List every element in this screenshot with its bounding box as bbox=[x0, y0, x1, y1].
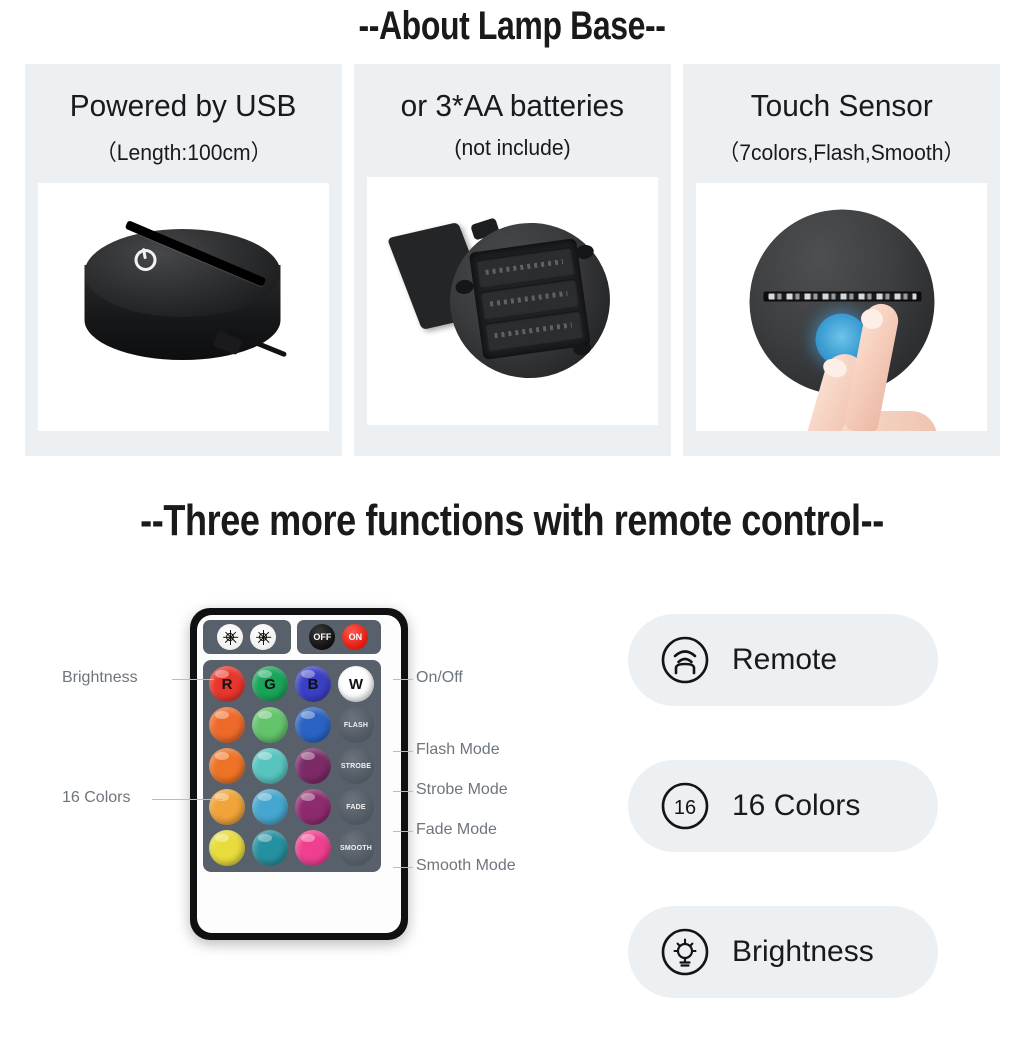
color-button[interactable] bbox=[209, 748, 245, 784]
power-icon bbox=[132, 247, 157, 272]
leader-line bbox=[393, 867, 413, 868]
brightness-button-group bbox=[203, 620, 291, 654]
color-row: SMOOTH bbox=[209, 830, 375, 866]
page-title: --About Lamp Base-- bbox=[102, 4, 921, 49]
smooth-mode-button[interactable]: SMOOTH bbox=[338, 830, 374, 866]
section-title: --Three more functions with remote contr… bbox=[92, 496, 932, 546]
feature-pill-remote[interactable]: Remote bbox=[628, 614, 938, 706]
card-touch-sensor: Touch Sensor （7colors,Flash,Smooth） bbox=[683, 64, 1000, 456]
remote-keypad: R G B W FLASH STROBE FADE bbox=[203, 660, 381, 872]
brightness-down-button[interactable] bbox=[250, 624, 276, 650]
battery-base-illustration bbox=[398, 211, 628, 391]
card-title: or 3*AA batteries bbox=[401, 90, 624, 123]
card-powered-by-usb: Powered by USB （Length:100cm） bbox=[25, 64, 342, 456]
label-smooth-mode: Smooth Mode bbox=[416, 857, 516, 875]
battery-compartment-photo bbox=[367, 177, 658, 425]
flash-mode-button[interactable]: FLASH bbox=[338, 707, 374, 743]
strobe-mode-button[interactable]: STROBE bbox=[338, 748, 374, 784]
led-strip bbox=[763, 291, 921, 301]
battery-well bbox=[468, 238, 590, 360]
label-fade-mode: Fade Mode bbox=[416, 821, 497, 839]
color-row: FLASH bbox=[209, 707, 375, 743]
white-button[interactable]: W bbox=[338, 666, 374, 702]
color-button[interactable] bbox=[209, 830, 245, 866]
feature-pill-list: Remote 16 16 Colors bbox=[628, 614, 938, 1052]
color-button[interactable] bbox=[252, 707, 288, 743]
card-subtitle: （7colors,Flash,Smooth） bbox=[718, 135, 964, 167]
leader-line bbox=[152, 799, 222, 800]
label-16-colors: 16 Colors bbox=[62, 789, 130, 807]
leader-line bbox=[393, 831, 413, 832]
color-button[interactable] bbox=[209, 789, 245, 825]
feature-label: Brightness bbox=[732, 935, 874, 969]
lamp-base-card-list: Powered by USB （Length:100cm） or 3*AA ba… bbox=[25, 64, 1000, 456]
rubber-foot bbox=[454, 278, 474, 294]
label-strobe-mode: Strobe Mode bbox=[416, 781, 508, 799]
green-button[interactable]: G bbox=[252, 666, 288, 702]
infographic-page: --About Lamp Base-- Powered by USB （Leng… bbox=[0, 0, 1024, 1024]
label-brightness: Brightness bbox=[62, 669, 138, 687]
color-button[interactable] bbox=[252, 748, 288, 784]
svg-text:16: 16 bbox=[674, 797, 696, 819]
lamp-base-illustration bbox=[76, 229, 291, 379]
color-button[interactable] bbox=[295, 830, 331, 866]
color-button[interactable] bbox=[252, 789, 288, 825]
color-button[interactable] bbox=[209, 707, 245, 743]
fade-mode-button[interactable]: FADE bbox=[338, 789, 374, 825]
card-title: Powered by USB bbox=[70, 90, 297, 123]
leader-line bbox=[172, 679, 214, 680]
base-underside bbox=[439, 212, 619, 388]
red-button[interactable]: R bbox=[209, 666, 245, 702]
blue-button[interactable]: B bbox=[295, 666, 331, 702]
remote-signal-icon bbox=[660, 635, 710, 685]
card-subtitle: (not include) bbox=[454, 135, 570, 161]
color-row: FADE bbox=[209, 789, 375, 825]
rgbw-row: R G B W bbox=[209, 666, 375, 702]
on-button[interactable]: ON bbox=[342, 624, 368, 650]
base-top-surface bbox=[84, 229, 280, 317]
color-row: STROBE bbox=[209, 748, 375, 784]
leader-line bbox=[393, 679, 413, 680]
color-button[interactable] bbox=[295, 707, 331, 743]
lightbulb-icon bbox=[660, 927, 710, 977]
off-button[interactable]: OFF bbox=[309, 624, 335, 650]
sun-icon bbox=[223, 630, 238, 645]
card-title: Touch Sensor bbox=[751, 90, 933, 123]
feature-pill-16-colors[interactable]: 16 16 Colors bbox=[628, 760, 938, 852]
label-flash-mode: Flash Mode bbox=[416, 741, 500, 759]
leader-line bbox=[393, 791, 413, 792]
feature-label: Remote bbox=[732, 643, 837, 677]
power-button-group: OFF ON bbox=[297, 620, 381, 654]
color-button[interactable] bbox=[295, 789, 331, 825]
usb-lamp-base-photo bbox=[38, 183, 329, 431]
label-on-off: On/Off bbox=[416, 669, 463, 687]
card-aa-batteries: or 3*AA batteries (not include) bbox=[354, 64, 671, 456]
feature-pill-brightness[interactable]: Brightness bbox=[628, 906, 938, 998]
brightness-up-button[interactable] bbox=[217, 624, 243, 650]
color-button[interactable] bbox=[252, 830, 288, 866]
hand-illustration bbox=[847, 303, 967, 431]
sun-icon bbox=[256, 630, 271, 645]
touch-sensor-photo bbox=[696, 183, 987, 431]
leader-line bbox=[393, 751, 413, 752]
remote-top-row: OFF ON bbox=[203, 620, 381, 654]
sixteen-circle-icon: 16 bbox=[660, 781, 710, 831]
feature-label: 16 Colors bbox=[732, 789, 860, 823]
card-subtitle: （Length:100cm） bbox=[95, 135, 271, 167]
color-button[interactable] bbox=[295, 748, 331, 784]
remote-control[interactable]: OFF ON R G B W FLASH STROBE bbox=[190, 608, 408, 940]
